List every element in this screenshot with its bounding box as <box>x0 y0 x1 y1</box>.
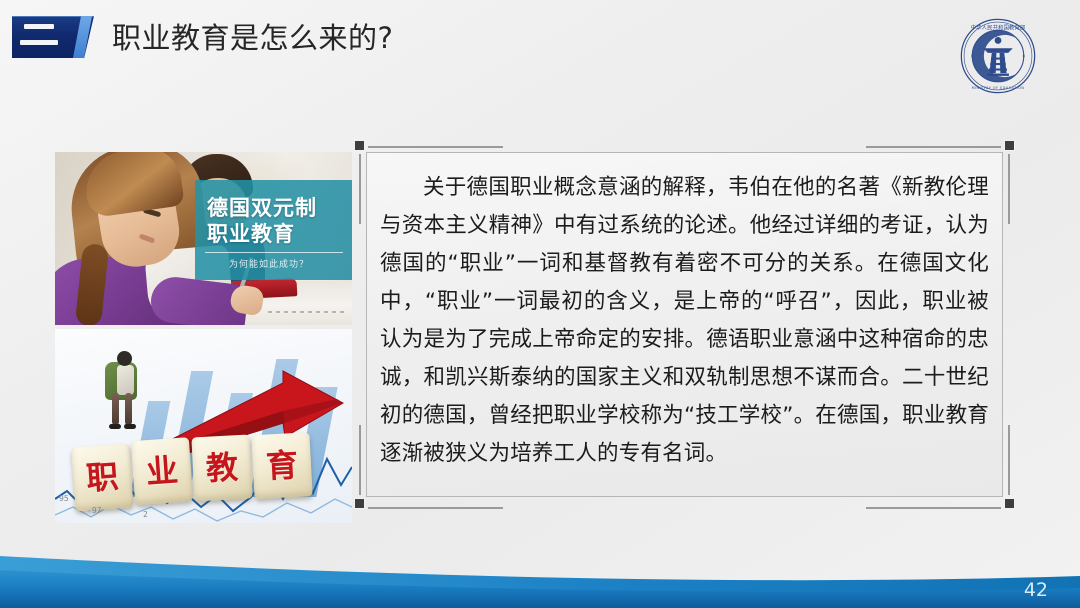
resize-handle-bottom-right[interactable] <box>1004 498 1015 509</box>
axis-label: -97 <box>87 506 101 515</box>
selection-edge-left-bottom <box>359 425 361 495</box>
photo-vocational-education-growth[interactable]: 职 业 教 育 95 -97 2 <box>55 329 352 523</box>
axis-label: 2 <box>143 510 148 519</box>
image-stack: 德国双元制 职业教育 为何能如此成功？ <box>55 152 352 523</box>
glyph-stroke-upper <box>24 24 54 29</box>
selection-edge-left-top <box>359 154 361 224</box>
selected-text-box[interactable]: 关于德国职业概念意涵的解释，韦伯在他的名著《新教伦理与资本主义精神》中有过系统的… <box>366 152 1003 497</box>
photo-figurine-shirt <box>117 365 134 395</box>
figurine-leg <box>112 393 119 425</box>
glyph-stroke-lower <box>20 40 58 45</box>
figurine-leg <box>125 393 132 425</box>
page-title: 职业教育是怎么来的? <box>112 16 393 60</box>
tile-character: 育 <box>251 432 312 499</box>
slide-canvas: 职业教育是怎么来的? 中华人民共和国教育部 MINISTRY OF EDUCAT… <box>0 0 1080 608</box>
page-number: 42 <box>1024 579 1048 601</box>
tile-character: 职 <box>71 443 133 511</box>
overlay-title-line-2: 职业教育 <box>207 222 295 246</box>
resize-handle-bottom-left[interactable] <box>354 498 365 509</box>
section-number-glyph-二 <box>20 24 60 50</box>
tile-character: 教 <box>191 434 252 501</box>
axis-label: 95 <box>59 494 69 503</box>
text-box-frame[interactable]: 关于德国职业概念意涵的解释，韦伯在他的名著《新教伦理与资本主义精神》中有过系统的… <box>366 152 1003 497</box>
selection-edge-top-right <box>866 146 1001 148</box>
selection-edge-top-left <box>368 146 503 148</box>
resize-handle-top-right[interactable] <box>1004 140 1015 151</box>
ministry-of-education-seal-icon: 中华人民共和国教育部 MINISTRY OF EDUCATION <box>959 17 1037 95</box>
photo-desk-dashes <box>268 311 346 313</box>
selection-edge-bottom-right <box>866 507 1001 509</box>
body-paragraph[interactable]: 关于德国职业概念意涵的解释，韦伯在他的名著《新教伦理与资本主义精神》中有过系统的… <box>380 169 989 473</box>
tile-character: 业 <box>131 437 193 505</box>
selection-edge-right-top <box>1008 154 1010 224</box>
selection-edge-right-bottom <box>1008 425 1010 495</box>
slide-header: 职业教育是怎么来的? 中华人民共和国教育部 MINISTRY OF EDUCAT… <box>0 0 1080 95</box>
footer-band <box>0 540 1080 608</box>
resize-handle-top-left[interactable] <box>354 140 365 151</box>
selection-edge-bottom-left <box>368 507 503 509</box>
overlay-title-line-1: 德国双元制 <box>207 196 317 220</box>
overlay-subtitle: 为何能如此成功？ <box>229 258 309 272</box>
overlay-divider <box>205 252 343 253</box>
photo-german-dual-system[interactable]: 德国双元制 职业教育 为何能如此成功？ <box>55 152 352 325</box>
figurine-shoe <box>109 424 121 429</box>
photo-title-overlay: 德国双元制 职业教育 为何能如此成功？ <box>195 180 352 280</box>
photo-figurine-head <box>117 351 132 366</box>
seal-text-en: MINISTRY OF EDUCATION <box>972 86 1025 90</box>
